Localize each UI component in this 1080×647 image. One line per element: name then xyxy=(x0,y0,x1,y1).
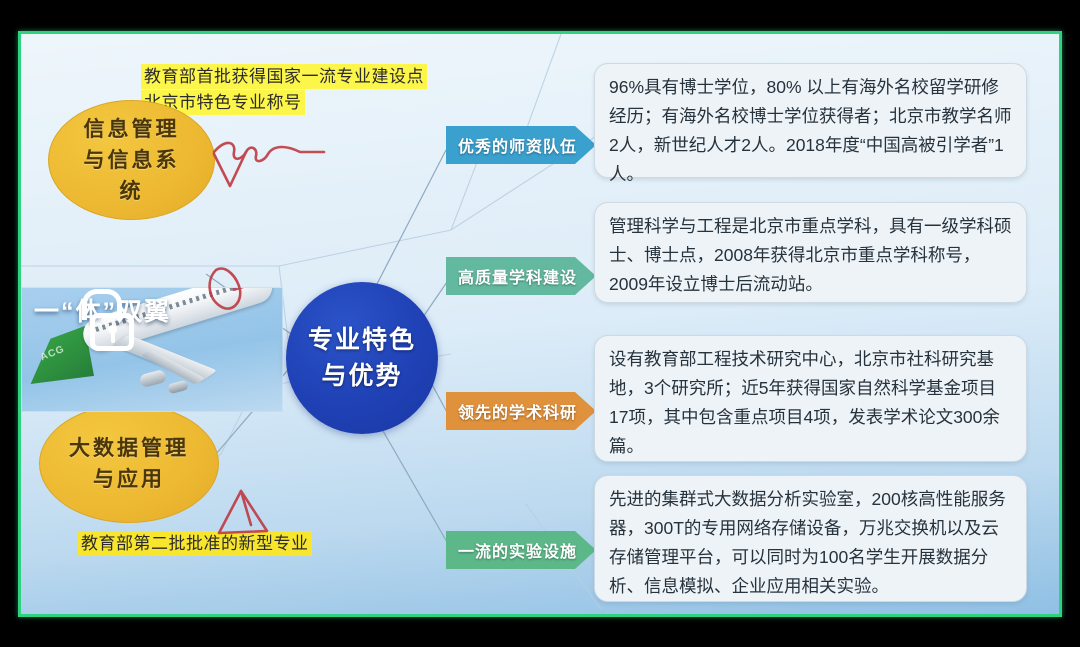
screen-capture: 教育部首批获得国家一流专业建设点 北京市特色专业称号 信息管理与信息系统 大数据… xyxy=(0,0,1080,647)
screen-share-border xyxy=(18,31,1062,617)
